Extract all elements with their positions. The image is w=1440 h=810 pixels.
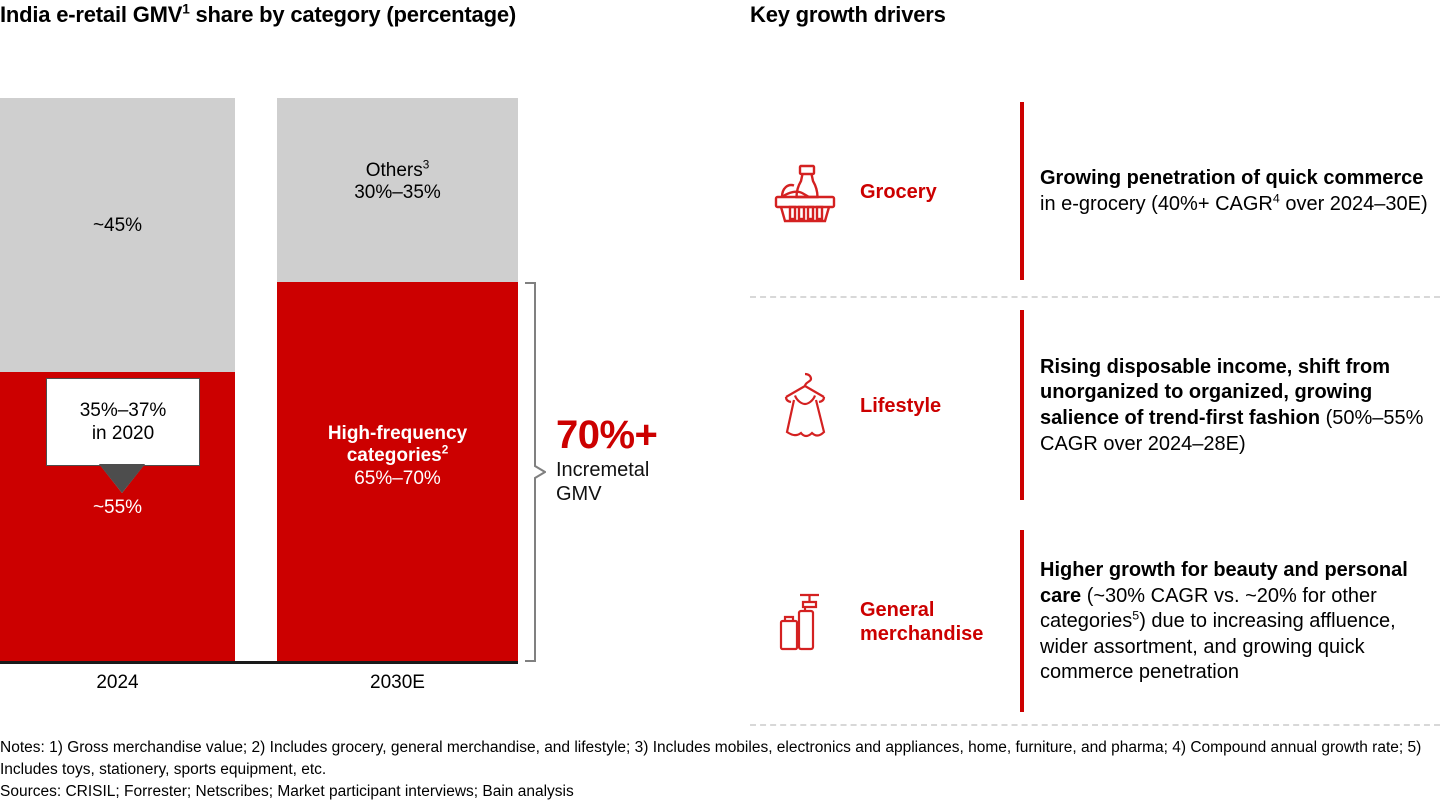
driver-row-grocery: Grocery Growing penetration of quick com…	[750, 88, 1440, 296]
driver-text-grocery-footnote-marker: 4	[1273, 191, 1280, 205]
driver-name-general-merchandise: General merchandise	[860, 598, 1020, 646]
highfreq-value-line: 65%–70%	[277, 468, 518, 490]
infographic-page: India e-retail GMV1 share by category (p…	[0, 0, 1440, 810]
incremental-gmv-bracket	[524, 282, 546, 662]
bottles-icon	[750, 590, 860, 654]
driver-name-gm-line1: General	[860, 598, 1012, 622]
x-axis-label-2030e: 2030E	[277, 672, 518, 694]
footnote-notes: Notes: 1) Gross merchandise value; 2) In…	[0, 737, 1440, 781]
driver-text-general-merchandise: Higher growth for beauty and personal ca…	[1024, 558, 1440, 686]
incremental-gmv-annotation: 70%+ Incremetal GMV	[556, 415, 736, 506]
others-value-line: 30%–35%	[277, 182, 518, 204]
x-axis-line	[0, 661, 518, 664]
drivers-panel-title: Key growth drivers	[750, 2, 946, 28]
driver-name-grocery: Grocery	[860, 180, 1020, 204]
driver-text-grocery-rest: in e-grocery (40%+ CAGR	[1040, 193, 1273, 215]
driver-row-lifestyle: Lifestyle Rising disposable income, shif…	[750, 296, 1440, 516]
driver-text-grocery-tail: over 2024–30E)	[1280, 193, 1428, 215]
callout-2020-share: 35%–37% in 2020	[46, 378, 200, 466]
driver-text-grocery-bold: Growing penetration of quick commerce	[1040, 167, 1423, 189]
highfreq-footnote-marker: 2	[442, 444, 449, 457]
driver-name-gm-line2: merchandise	[860, 622, 1012, 646]
others-title-line: Others3	[277, 160, 518, 182]
bracket-shape	[524, 282, 546, 662]
others-footnote-marker: 3	[423, 159, 430, 172]
incremental-gmv-subtext: Incremetal GMV	[556, 459, 736, 506]
bar-2024-highfreq-label: ~55%	[0, 497, 235, 519]
callout-line2: in 2020	[92, 422, 154, 445]
dress-hanger-icon	[750, 370, 860, 442]
incremental-gmv-subtext-line2: GMV	[556, 483, 736, 507]
others-title-text: Others	[366, 160, 423, 181]
bar-2030e-others-label: Others3 30%–35%	[277, 160, 518, 205]
bar-2030e-highfreq-label: High-frequency categories2 65%–70%	[277, 423, 518, 490]
footnote-sources: Sources: CRISIL; Forrester; Netscribes; …	[0, 781, 1440, 803]
driver-name-lifestyle: Lifestyle	[860, 394, 1020, 418]
stacked-bar-chart: ~45% ~55% Others3 30%–35% High-frequency…	[0, 0, 740, 730]
highfreq-title-text: categories	[347, 445, 442, 466]
incremental-gmv-headline: 70%+	[556, 415, 736, 455]
callout-line1: 35%–37%	[80, 399, 167, 422]
driver-text-lifestyle: Rising disposable income, shift from uno…	[1024, 355, 1440, 457]
highfreq-title-line2: categories2	[277, 445, 518, 467]
key-growth-drivers-list: Grocery Growing penetration of quick com…	[750, 88, 1440, 728]
footnotes: Notes: 1) Gross merchandise value; 2) In…	[0, 737, 1440, 803]
x-axis-label-2024: 2024	[0, 672, 235, 694]
driver-row-general-merchandise: General merchandise Higher growth for be…	[750, 516, 1440, 728]
callout-pointer	[100, 465, 144, 493]
bar-2024-others-label: ~45%	[0, 215, 235, 237]
grocery-basket-icon	[750, 161, 860, 223]
driver-text-grocery: Growing penetration of quick commerce in…	[1024, 166, 1440, 217]
highfreq-title-line1: High-frequency	[277, 423, 518, 445]
incremental-gmv-subtext-line1: Incremetal	[556, 459, 736, 483]
